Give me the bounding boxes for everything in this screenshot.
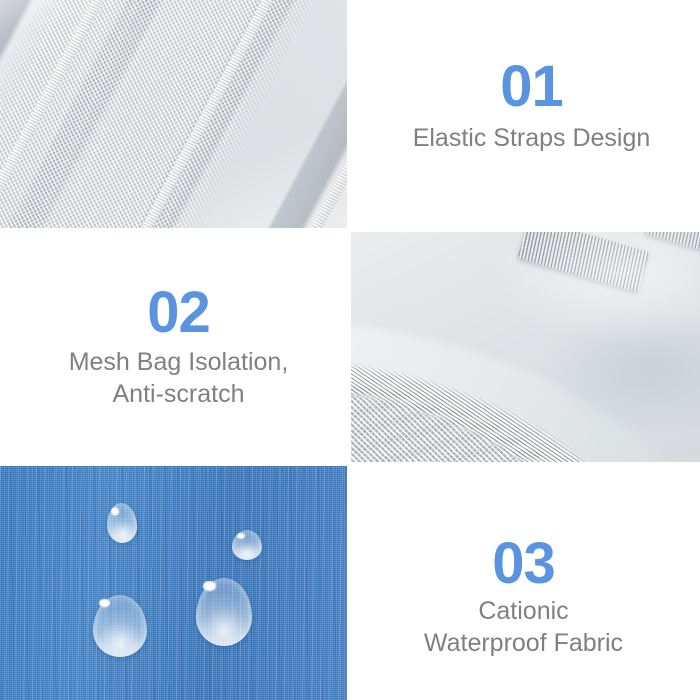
- mesh-bag-photo: [351, 232, 700, 462]
- water-droplet: [232, 530, 262, 560]
- feature-text-02: Mesh Bag Isolation, Anti-scratch: [69, 346, 289, 410]
- feature-caption-03: 03 Cationic Waterproof Fabric: [351, 466, 700, 700]
- water-droplet: [93, 595, 147, 657]
- photo-highlight-layer: [351, 232, 700, 462]
- feature-text-03: Cationic Waterproof Fabric: [424, 595, 623, 659]
- feature-caption-01: 01 Elastic Straps Design: [351, 0, 700, 228]
- feature-caption-02: 02 Mesh Bag Isolation, Anti-scratch: [0, 232, 347, 462]
- feature-number-02: 02: [69, 284, 289, 342]
- fabric-weave-layer: [0, 466, 347, 700]
- waterproof-fabric-photo: [0, 466, 347, 700]
- feature-number-03: 03: [424, 535, 623, 593]
- feature-grid: 01 Elastic Straps Design 02 Mesh Bag Iso…: [0, 0, 700, 700]
- feature-text-01: Elastic Straps Design: [413, 122, 651, 154]
- feature-number-01: 01: [413, 58, 651, 116]
- elastic-straps-photo: [0, 0, 347, 228]
- photo-highlight-layer: [0, 0, 347, 228]
